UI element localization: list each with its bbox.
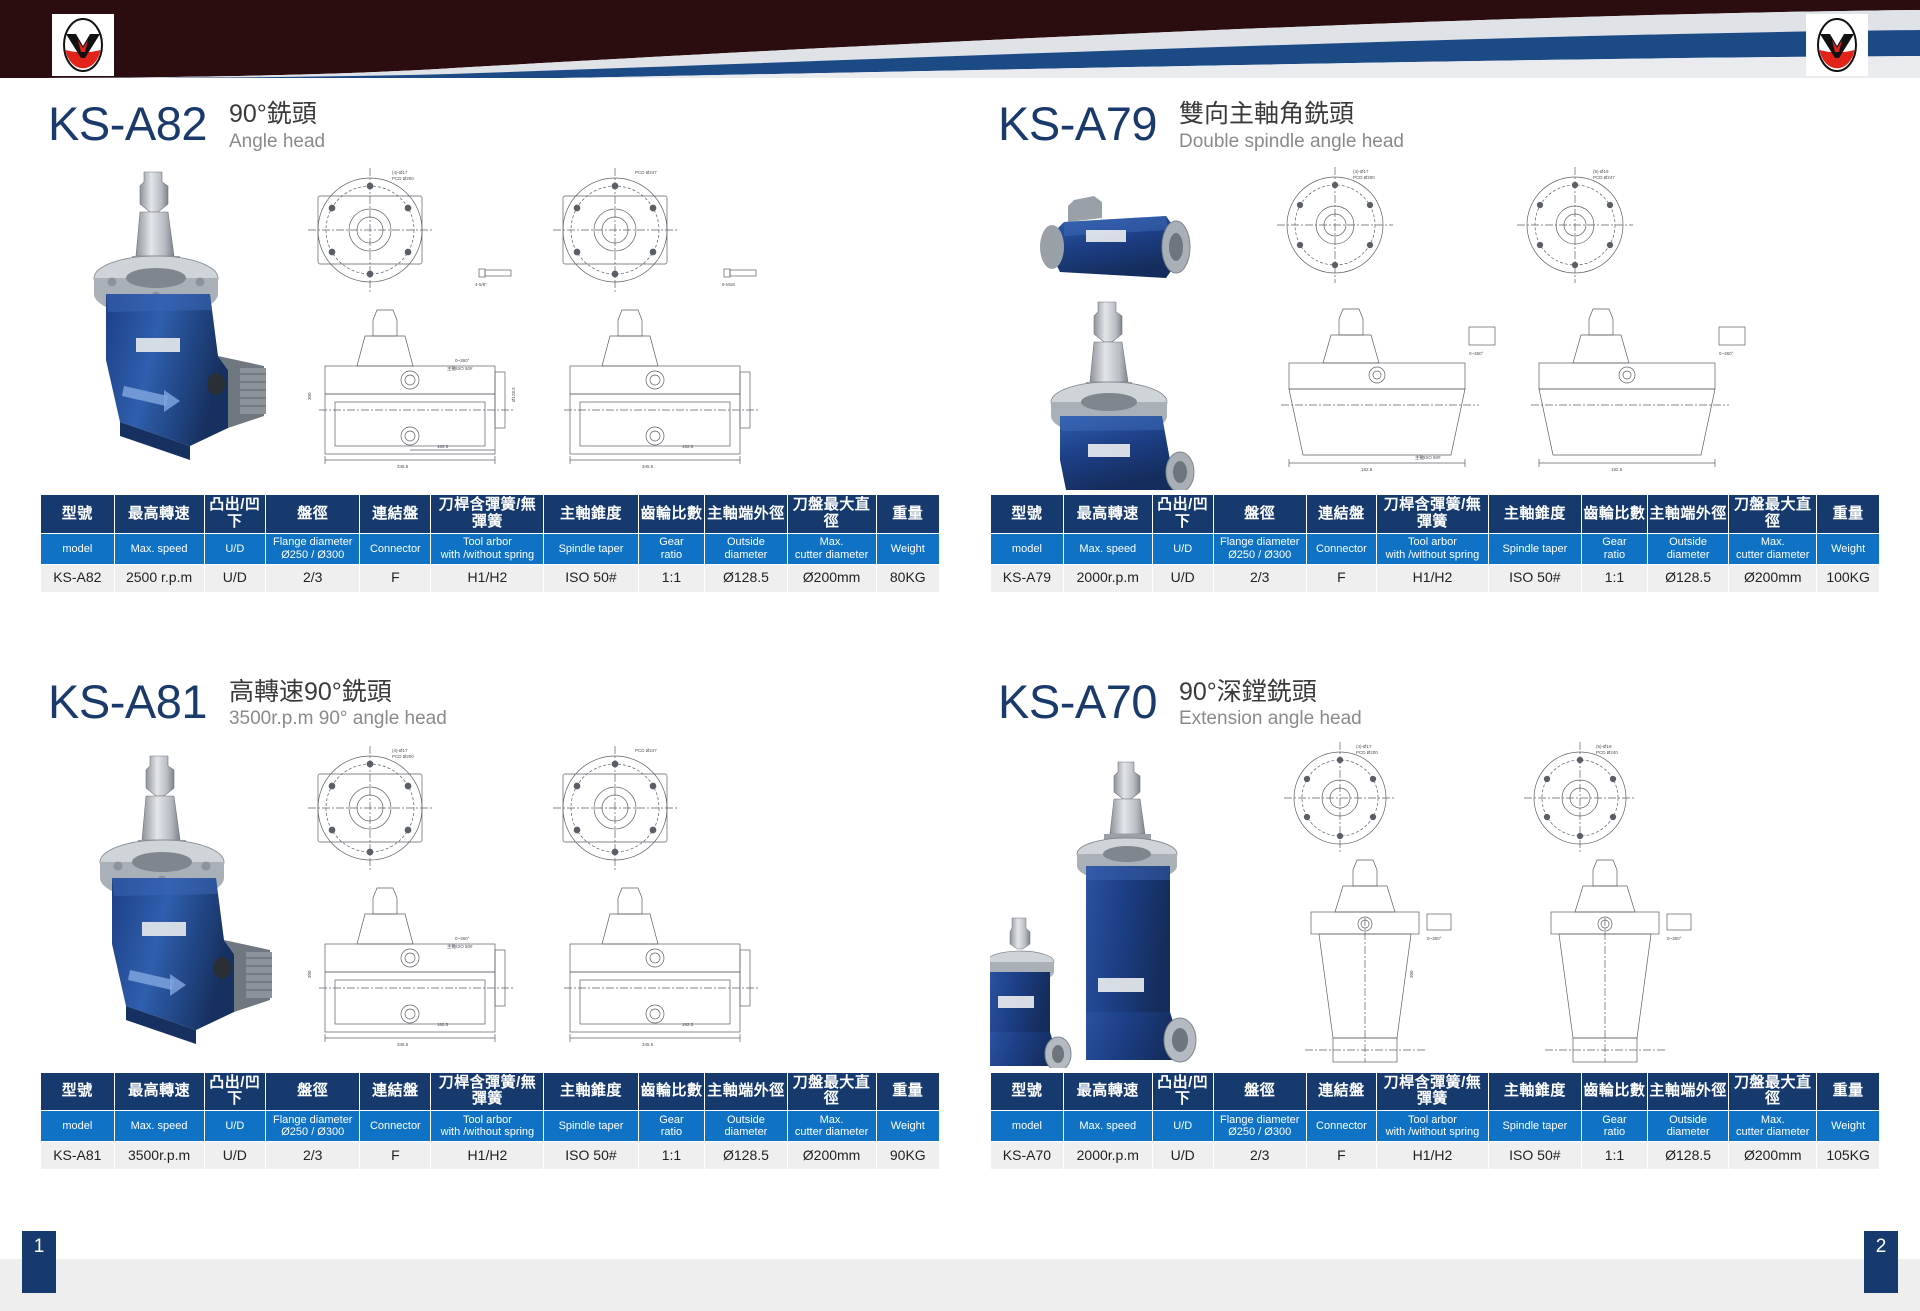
- th-arbor-en-l2: with /without spring: [441, 549, 535, 561]
- th-weight-en: Weight: [1817, 533, 1880, 564]
- cell-model: KS-A82: [41, 564, 115, 592]
- th-taper-en: Spindle taper: [544, 533, 638, 564]
- th-flange-en: Flange diameter Ø250 / Ø300: [266, 1111, 360, 1142]
- th-gear-en: Gear ratio: [638, 533, 705, 564]
- table-header-en: model Max. speed U/D Flange diameter Ø25…: [41, 533, 940, 564]
- th-connector-en: Connector: [360, 533, 431, 564]
- th-taper-cn: 主軸錐度: [1488, 495, 1581, 534]
- th-outside-cn: 主軸端外徑: [1647, 495, 1728, 534]
- cell-taper: ISO 50#: [1488, 1142, 1581, 1170]
- th-flange-en: Flange diameter Ø250 / Ø300: [1213, 1111, 1306, 1142]
- technical-drawings-ks-a70: (4)-Ø17 PCD Ø200: [1225, 738, 1880, 1068]
- th-gear-en-l1: Gear: [1602, 536, 1626, 548]
- figure-area: (4)-Ø17 PCD Ø200: [990, 160, 1880, 490]
- product-title-cn: 雙向主軸角銑頭: [1179, 100, 1404, 130]
- th-arbor-cn: 刀桿含彈簧/無彈簧: [1377, 1072, 1489, 1111]
- th-taper-en: Spindle taper: [1488, 533, 1581, 564]
- drawing-dim-a70-1: 300: [1409, 970, 1414, 978]
- cell-flange: 2/3: [1213, 564, 1306, 592]
- drawing-dim-a79-2: 182.5: [1611, 467, 1623, 472]
- cell-gear: 1:1: [638, 1142, 705, 1170]
- technical-drawings-ks-a79: (4)-Ø17 PCD Ø200: [1225, 160, 1880, 490]
- th-connector-cn: 連結盤: [360, 495, 431, 534]
- cell-flange: 2/3: [266, 564, 360, 592]
- drawing-label-holes-a81: (4)-Ø17: [392, 748, 408, 753]
- th-gear-en-l2: ratio: [661, 549, 682, 561]
- cell-connector: F: [360, 564, 431, 592]
- th-cutter-en-l2: cutter diameter: [1736, 549, 1809, 561]
- page-number-left: 1: [22, 1231, 56, 1293]
- drawing-label-holes19-a79: (6)-Ø19: [1593, 169, 1609, 174]
- catalog-spread: KS-A82 90°銑頭 Angle head: [0, 78, 1920, 1233]
- cell-arbor: H1/H2: [1377, 1142, 1489, 1170]
- th-ud-en: U/D: [204, 533, 266, 564]
- th-cutter-cn: 刀盤最大直徑: [787, 1072, 876, 1111]
- product-photo-ks-a79: [990, 160, 1225, 490]
- drawing-label-rot-a81: 0~360°: [455, 936, 470, 941]
- th-flange-en-l1: Flange diameter: [1220, 1114, 1300, 1126]
- th-ud-en: U/D: [1152, 533, 1213, 564]
- drawing-label-rot2-a70: 0~360°: [1667, 936, 1682, 941]
- th-cutter-en-l1: Max.: [820, 536, 844, 548]
- th-gear-en-l1: Gear: [1602, 1114, 1626, 1126]
- drawing-label-pcd-a79: PCD Ø200: [1353, 175, 1375, 180]
- cell-ud: U/D: [1152, 564, 1213, 592]
- model-code: KS-A79: [998, 96, 1157, 147]
- cell-arbor: H1/H2: [431, 564, 544, 592]
- drawing-label-holes-a79: (4)-Ø17: [1353, 169, 1369, 174]
- drawing-label-iso-a79: 主軸ISO 50#: [1415, 454, 1441, 461]
- th-cutter-cn: 刀盤最大直徑: [1729, 495, 1817, 534]
- th-arbor-en-l2: with /without spring: [1386, 1126, 1480, 1138]
- figure-area: (4)-Ø17 PCD Ø200: [990, 738, 1880, 1068]
- th-flange-cn: 盤徑: [266, 495, 360, 534]
- th-model-cn: 型號: [991, 1072, 1064, 1111]
- cell-gear: 1:1: [1581, 1142, 1647, 1170]
- cell-flange: 2/3: [266, 1142, 360, 1170]
- th-outside-en-l1: Outside: [1669, 536, 1707, 548]
- th-cutter-en-l2: cutter diameter: [795, 549, 868, 561]
- product-panel-ks-a70: KS-A70 90°深鏜銑頭 Extension angle head: [980, 656, 1920, 1234]
- drawing-dim-a81-1: 345.5: [397, 1042, 409, 1047]
- th-ud-en: U/D: [1152, 1111, 1213, 1142]
- th-connector-cn: 連結盤: [360, 1072, 431, 1111]
- th-model-en: model: [41, 533, 115, 564]
- th-gear-en-l2: ratio: [1604, 1126, 1625, 1138]
- th-weight-cn: 重量: [1817, 1072, 1880, 1111]
- th-cutter-cn: 刀盤最大直徑: [1729, 1072, 1817, 1111]
- cell-taper: ISO 50#: [544, 564, 638, 592]
- page-number-right: 2: [1864, 1231, 1898, 1293]
- spec-table-ks-a82: 型號 最高轉速 凸出/凹下 盤徑 連結盤 刀桿含彈簧/無彈簧 主軸錐度 齒輪比數…: [40, 494, 940, 593]
- cell-gear: 1:1: [1581, 564, 1647, 592]
- th-outside-en-l2: diameter: [1667, 549, 1710, 561]
- th-gear-cn: 齒輪比數: [1581, 1072, 1647, 1111]
- table-row: KS-A82 2500 r.p.m U/D 2/3 F H1/H2 ISO 50…: [41, 564, 940, 592]
- drawing-label-pcd-a81: PCD Ø200: [392, 754, 414, 759]
- cell-connector: F: [1306, 564, 1376, 592]
- th-weight-cn: 重量: [1817, 495, 1880, 534]
- technical-drawings-ks-a82: (4)-Ø17 PCD Ø200: [275, 160, 940, 490]
- th-flange-en-l1: Flange diameter: [273, 1114, 353, 1126]
- th-cutter-en: Max. cutter diameter: [1729, 1111, 1817, 1142]
- table-header-cn: 型號 最高轉速 凸出/凹下 盤徑 連結盤 刀桿含彈簧/無彈簧 主軸錐度 齒輪比數…: [991, 1072, 1880, 1111]
- drawing-dim-300: 300: [307, 392, 312, 400]
- drawing-label-bolt-m18: 6-M18: [722, 282, 735, 287]
- th-arbor-en-l1: Tool arbor: [1408, 1114, 1457, 1126]
- cell-taper: ISO 50#: [1488, 564, 1581, 592]
- th-speed-en: Max. speed: [114, 533, 204, 564]
- spec-table-ks-a70: 型號 最高轉速 凸出/凹下 盤徑 連結盤 刀桿含彈簧/無彈簧 主軸錐度 齒輪比數…: [990, 1072, 1880, 1171]
- cell-ud: U/D: [204, 1142, 266, 1170]
- drawing-label-pcd: PCD Ø200: [392, 176, 414, 181]
- th-connector-cn: 連結盤: [1306, 1072, 1376, 1111]
- th-connector-en: Connector: [1306, 533, 1376, 564]
- cell-speed: 2000r.p.m: [1063, 564, 1152, 592]
- drawing-dim-a79-1: 182.5: [1361, 467, 1373, 472]
- table-header-en: model Max. speed U/D Flange diameter Ø25…: [41, 1111, 940, 1142]
- product-title-cn: 90°銑頭: [229, 100, 325, 130]
- table-header-en: model Max. speed U/D Flange diameter Ø25…: [991, 533, 1880, 564]
- cell-outside: Ø128.5: [1647, 564, 1728, 592]
- table-header-en: model Max. speed U/D Flange diameter Ø25…: [991, 1111, 1880, 1142]
- header-banner: [0, 0, 1920, 78]
- th-weight-en: Weight: [1817, 1111, 1880, 1142]
- table-header-cn: 型號 最高轉速 凸出/凹下 盤徑 連結盤 刀桿含彈簧/無彈簧 主軸錐度 齒輪比數…: [41, 495, 940, 534]
- cell-speed: 3500r.p.m: [114, 1142, 204, 1170]
- th-flange-en-l2: Ø250 / Ø300: [1228, 1126, 1291, 1138]
- spec-table-ks-a81: 型號 最高轉速 凸出/凹下 盤徑 連結盤 刀桿含彈簧/無彈簧 主軸錐度 齒輪比數…: [40, 1072, 940, 1171]
- th-flange-en: Flange diameter Ø250 / Ø300: [1213, 533, 1306, 564]
- th-weight-cn: 重量: [876, 1072, 939, 1111]
- th-ud-cn: 凸出/凹下: [1152, 495, 1213, 534]
- product-title-ks-a79: KS-A79 雙向主軸角銑頭 Double spindle angle head: [990, 96, 1880, 154]
- th-flange-en-l1: Flange diameter: [273, 536, 353, 548]
- th-flange-cn: 盤徑: [1213, 495, 1306, 534]
- th-taper-cn: 主軸錐度: [544, 1072, 638, 1111]
- cell-flange: 2/3: [1213, 1142, 1306, 1170]
- th-gear-cn: 齒輪比數: [1581, 495, 1647, 534]
- product-title-cn: 高轉速90°銑頭: [229, 678, 447, 708]
- drawing-dim-1825-b: 182.5: [682, 444, 694, 449]
- drawing-label-rot2-a79: 0~360°: [1719, 351, 1734, 356]
- footer-bar: [0, 1259, 1920, 1311]
- drawing-label-pcd2-a81: PCD Ø247: [635, 748, 657, 753]
- th-outside-en: Outside diameter: [705, 1111, 787, 1142]
- th-connector-en: Connector: [1306, 1111, 1376, 1142]
- product-title-en: Extension angle head: [1179, 707, 1362, 732]
- th-connector-cn: 連結盤: [1306, 495, 1376, 534]
- cell-cutter: Ø200mm: [1729, 564, 1817, 592]
- th-outside-en: Outside diameter: [705, 533, 787, 564]
- th-outside-en-l1: Outside: [1669, 1114, 1707, 1126]
- drawing-label-pcd240-a70: PCD Ø240: [1596, 750, 1618, 755]
- th-speed-cn: 最高轉速: [1063, 1072, 1152, 1111]
- th-outside-en-l1: Outside: [727, 1114, 765, 1126]
- product-panel-ks-a81: KS-A81 高轉速90°銑頭 3500r.p.m 90° angle head: [0, 656, 980, 1234]
- drawing-dim-a81-2: 182.5: [437, 1022, 449, 1027]
- th-cutter-en: Max. cutter diameter: [787, 533, 876, 564]
- th-speed-cn: 最高轉速: [1063, 495, 1152, 534]
- th-arbor-en-l1: Tool arbor: [463, 1114, 512, 1126]
- model-code: KS-A81: [48, 674, 207, 725]
- product-panel-ks-a79: KS-A79 雙向主軸角銑頭 Double spindle angle head: [980, 78, 1920, 656]
- table-row: KS-A79 2000r.p.m U/D 2/3 F H1/H2 ISO 50#…: [991, 564, 1880, 592]
- cell-outside: Ø128.5: [705, 564, 787, 592]
- th-cutter-en-l2: cutter diameter: [795, 1126, 868, 1138]
- table-row: KS-A81 3500r.p.m U/D 2/3 F H1/H2 ISO 50#…: [41, 1142, 940, 1170]
- cell-connector: F: [360, 1142, 431, 1170]
- drawing-label-holes-a70: (4)-Ø17: [1356, 744, 1372, 749]
- th-taper-en: Spindle taper: [544, 1111, 638, 1142]
- cell-outside: Ø128.5: [1647, 1142, 1728, 1170]
- th-ud-cn: 凸出/凹下: [204, 495, 266, 534]
- th-weight-cn: 重量: [876, 495, 939, 534]
- table-row: KS-A70 2000r.p.m U/D 2/3 F H1/H2 ISO 50#…: [991, 1142, 1880, 1170]
- th-flange-en-l1: Flange diameter: [1220, 536, 1300, 548]
- drawing-dim-3455: 345.5: [397, 464, 409, 469]
- cell-gear: 1:1: [638, 564, 705, 592]
- th-weight-en: Weight: [876, 533, 939, 564]
- th-arbor-en: Tool arbor with /without spring: [431, 1111, 544, 1142]
- th-cutter-en-l2: cutter diameter: [1736, 1126, 1809, 1138]
- th-ud-en: U/D: [204, 1111, 266, 1142]
- drawing-label-iso-a81: 主軸ISO 50#: [447, 943, 473, 950]
- th-cutter-en-l1: Max.: [1761, 536, 1785, 548]
- th-gear-en-l2: ratio: [1604, 549, 1625, 561]
- product-title-en: 3500r.p.m 90° angle head: [229, 707, 447, 732]
- th-model-cn: 型號: [41, 495, 115, 534]
- th-speed-en: Max. speed: [114, 1111, 204, 1142]
- th-model-cn: 型號: [41, 1072, 115, 1111]
- cell-cutter: Ø200mm: [1729, 1142, 1817, 1170]
- drawing-label-holes19-a70: (6)-Ø19: [1596, 744, 1612, 749]
- catalog-page: KS-A82 90°銑頭 Angle head: [0, 0, 1920, 1311]
- th-taper-en: Spindle taper: [1488, 1111, 1581, 1142]
- technical-drawings-ks-a81: (4)-Ø17 PCD Ø200: [275, 738, 940, 1068]
- table-header-cn: 型號 最高轉速 凸出/凹下 盤徑 連結盤 刀桿含彈簧/無彈簧 主軸錐度 齒輪比數…: [41, 1072, 940, 1111]
- th-flange-en-l2: Ø250 / Ø300: [1228, 549, 1291, 561]
- product-title-ks-a70: KS-A70 90°深鏜銑頭 Extension angle head: [990, 674, 1880, 732]
- cell-weight: 100KG: [1817, 564, 1880, 592]
- th-arbor-en-l1: Tool arbor: [1408, 536, 1457, 548]
- cell-weight: 105KG: [1817, 1142, 1880, 1170]
- cell-ud: U/D: [1152, 1142, 1213, 1170]
- page-footer: 1 2: [0, 1233, 1920, 1311]
- th-arbor-en: Tool arbor with /without spring: [1377, 533, 1489, 564]
- drawing-label-holes: (4)-Ø17: [392, 170, 408, 175]
- th-weight-en: Weight: [876, 1111, 939, 1142]
- company-logo-right: [1806, 14, 1868, 76]
- drawing-label-iso-a70: 主軸ISO 50#: [1329, 1067, 1355, 1068]
- th-arbor-cn: 刀桿含彈簧/無彈簧: [1377, 495, 1489, 534]
- th-arbor-cn: 刀桿含彈簧/無彈簧: [431, 1072, 544, 1111]
- cell-ud: U/D: [204, 564, 266, 592]
- cell-model: KS-A79: [991, 564, 1064, 592]
- drawing-label-pcd-a70: PCD Ø200: [1356, 750, 1378, 755]
- th-outside-en: Outside diameter: [1647, 533, 1728, 564]
- th-gear-cn: 齒輪比數: [638, 1072, 705, 1111]
- th-cutter-cn: 刀盤最大直徑: [787, 495, 876, 534]
- th-flange-en: Flange diameter Ø250 / Ø300: [266, 533, 360, 564]
- th-speed-en: Max. speed: [1063, 533, 1152, 564]
- company-logo-left: [52, 14, 114, 76]
- th-gear-en: Gear ratio: [1581, 533, 1647, 564]
- drawing-label-pcd247-a79: PCD Ø247: [1593, 175, 1615, 180]
- th-arbor-en: Tool arbor with /without spring: [431, 533, 544, 564]
- cell-speed: 2500 r.p.m: [114, 564, 204, 592]
- product-panel-ks-a82: KS-A82 90°銑頭 Angle head: [0, 78, 980, 656]
- th-arbor-en: Tool arbor with /without spring: [1377, 1111, 1489, 1142]
- model-code: KS-A82: [48, 96, 207, 147]
- th-outside-cn: 主軸端外徑: [705, 495, 787, 534]
- th-gear-cn: 齒輪比數: [638, 495, 705, 534]
- th-cutter-en: Max. cutter diameter: [787, 1111, 876, 1142]
- th-arbor-en-l2: with /without spring: [1386, 549, 1480, 561]
- cell-model: KS-A81: [41, 1142, 115, 1170]
- th-gear-en: Gear ratio: [638, 1111, 705, 1142]
- cell-outside: Ø128.5: [705, 1142, 787, 1170]
- spec-table-ks-a79: 型號 最高轉速 凸出/凹下 盤徑 連結盤 刀桿含彈簧/無彈簧 主軸錐度 齒輪比數…: [990, 494, 1880, 593]
- drawing-label-rotation: 0~360°: [455, 358, 470, 363]
- th-model-en: model: [991, 533, 1064, 564]
- th-ud-cn: 凸出/凹下: [1152, 1072, 1213, 1111]
- cell-weight: 80KG: [876, 564, 939, 592]
- model-code: KS-A70: [998, 674, 1157, 725]
- product-photo-ks-a82: [40, 160, 275, 490]
- table-header-cn: 型號 最高轉速 凸出/凹下 盤徑 連結盤 刀桿含彈簧/無彈簧 主軸錐度 齒輪比數…: [991, 495, 1880, 534]
- th-speed-cn: 最高轉速: [114, 495, 204, 534]
- th-speed-cn: 最高轉速: [114, 1072, 204, 1111]
- product-title-ks-a81: KS-A81 高轉速90°銑頭 3500r.p.m 90° angle head: [40, 674, 940, 732]
- drawing-label-iso50: 主軸ISO 50#: [447, 365, 473, 372]
- th-arbor-cn: 刀桿含彈簧/無彈簧: [431, 495, 544, 534]
- th-outside-cn: 主軸端外徑: [705, 1072, 787, 1111]
- th-cutter-en-l1: Max.: [1761, 1114, 1785, 1126]
- th-model-en: model: [991, 1111, 1064, 1142]
- th-gear-en-l1: Gear: [659, 536, 683, 548]
- cell-cutter: Ø200mm: [787, 564, 876, 592]
- th-cutter-en-l1: Max.: [820, 1114, 844, 1126]
- cell-arbor: H1/H2: [431, 1142, 544, 1170]
- cell-cutter: Ø200mm: [787, 1142, 876, 1170]
- product-title-ks-a82: KS-A82 90°銑頭 Angle head: [40, 96, 940, 154]
- th-outside-en: Outside diameter: [1647, 1111, 1728, 1142]
- product-title-en: Angle head: [229, 130, 325, 155]
- th-outside-en-l1: Outside: [727, 536, 765, 548]
- th-gear-en: Gear ratio: [1581, 1111, 1647, 1142]
- th-taper-cn: 主軸錐度: [544, 495, 638, 534]
- drawing-label-rot-a70: 0~360°: [1427, 936, 1442, 941]
- th-flange-en-l2: Ø250 / Ø300: [281, 549, 344, 561]
- cell-speed: 2000r.p.m: [1063, 1142, 1152, 1170]
- drawing-dim-a81-5: 182.5: [682, 1022, 694, 1027]
- cell-connector: F: [1306, 1142, 1376, 1170]
- cell-arbor: H1/H2: [1377, 564, 1489, 592]
- th-flange-en-l2: Ø250 / Ø300: [281, 1126, 344, 1138]
- th-flange-cn: 盤徑: [1213, 1072, 1306, 1111]
- drawing-dim-1285: Ø128.5: [511, 387, 516, 402]
- drawing-label-iso2-a70: 主軸ISO 50#: [1569, 1067, 1595, 1068]
- product-title-en: Double spindle angle head: [1179, 130, 1404, 155]
- drawing-dim-3455-b: 345.5: [642, 464, 654, 469]
- th-gear-en-l1: Gear: [659, 1114, 683, 1126]
- drawing-label-pcd-alt: PCD Ø247: [635, 170, 657, 175]
- th-ud-cn: 凸出/凹下: [204, 1072, 266, 1111]
- drawing-dim-1825: 182.5: [437, 444, 449, 449]
- th-connector-en: Connector: [360, 1111, 431, 1142]
- th-gear-en-l2: ratio: [661, 1126, 682, 1138]
- product-title-cn: 90°深鏜銑頭: [1179, 678, 1362, 708]
- th-outside-en-l2: diameter: [725, 549, 768, 561]
- th-flange-cn: 盤徑: [266, 1072, 360, 1111]
- th-arbor-en-l2: with /without spring: [441, 1126, 535, 1138]
- th-arbor-en-l1: Tool arbor: [463, 536, 512, 548]
- th-model-cn: 型號: [991, 495, 1064, 534]
- th-speed-en: Max. speed: [1063, 1111, 1152, 1142]
- th-model-en: model: [41, 1111, 115, 1142]
- drawing-label-bolt-58: 4-5/8": [475, 282, 487, 287]
- drawing-label-rot-a79: 0~360°: [1469, 351, 1484, 356]
- cell-taper: ISO 50#: [544, 1142, 638, 1170]
- product-photo-ks-a81: [40, 738, 275, 1068]
- th-outside-en-l2: diameter: [1667, 1126, 1710, 1138]
- cell-weight: 90KG: [876, 1142, 939, 1170]
- th-taper-cn: 主軸錐度: [1488, 1072, 1581, 1111]
- drawing-dim-a81-3: 300: [307, 970, 312, 978]
- figure-area: (4)-Ø17 PCD Ø200: [40, 738, 940, 1068]
- th-outside-en-l2: diameter: [725, 1126, 768, 1138]
- product-photo-ks-a70: [990, 738, 1225, 1068]
- th-outside-cn: 主軸端外徑: [1647, 1072, 1728, 1111]
- th-cutter-en: Max. cutter diameter: [1729, 533, 1817, 564]
- figure-area: (4)-Ø17 PCD Ø200: [40, 160, 940, 490]
- cell-model: KS-A70: [991, 1142, 1064, 1170]
- drawing-dim-a81-4: 345.5: [642, 1042, 654, 1047]
